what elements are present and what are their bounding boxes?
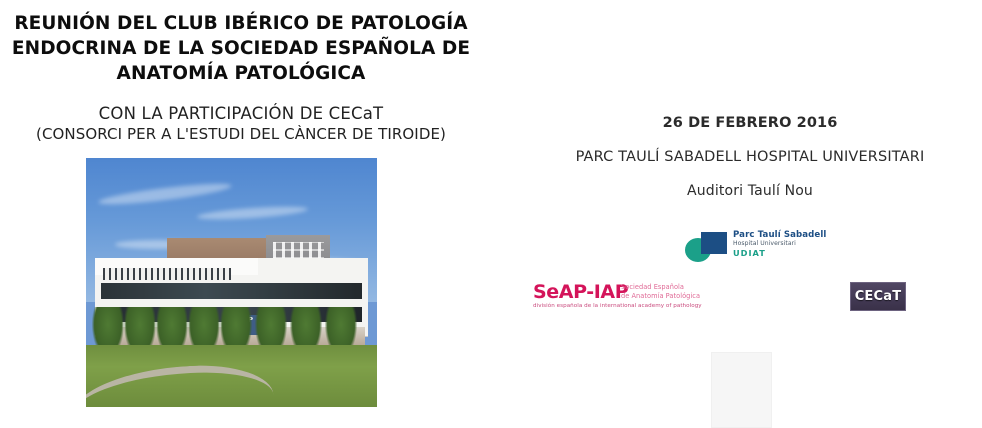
cecat-logo: CECaT (850, 282, 906, 311)
photo-glass-band (101, 283, 363, 299)
parc-tauli-logo: Parc Taulí Sabadell Hospital Universitar… (683, 230, 833, 264)
page-title: REUNIÓN DEL CLUB IBÉRICO DE PATOLOGÍA EN… (10, 11, 472, 86)
parc-tauli-logo-text: Parc Taulí Sabadell Hospital Universitar… (733, 230, 833, 259)
title-line-1: REUNIÓN DEL CLUB IBÉRICO DE PATOLOGÍA (10, 11, 472, 36)
left-column: REUNIÓN DEL CLUB IBÉRICO DE PATOLOGÍA EN… (0, 0, 482, 428)
parc-tauli-subtitle: Hospital Universitari (733, 240, 833, 248)
seap-iap-logo: SeAP-IAP Sociedad Española de Anatomía P… (533, 281, 718, 313)
event-date: 26 DE FEBRERO 2016 (510, 106, 982, 140)
title-line-2: ENDOCRINA DE LA SOCIEDAD ESPAÑOLA DE (10, 36, 472, 61)
event-auditorium: Auditori Taulí Nou (510, 174, 982, 208)
parc-tauli-unit: UDIAT (733, 248, 833, 259)
venue-photo: P (86, 158, 377, 407)
seap-iap-division-text: división española de la international ac… (533, 302, 702, 310)
participation-subtext: (CONSORCI PER A L'ESTUDI DEL CÀNCER DE T… (10, 124, 472, 144)
photo-facade-louvers (103, 268, 231, 280)
event-venue: PARC TAULÍ SABADELL HOSPITAL UNIVERSITAR… (510, 140, 982, 174)
seap-iap-tagline-line1: Sociedad Española (621, 283, 719, 292)
title-line-3: ANATOMÍA PATOLÓGICA (10, 61, 472, 86)
participation-block: CON LA PARTICIPACIÓN DE CECaT (CONSORCI … (10, 103, 472, 144)
seap-iap-tagline: Sociedad Española de Anatomía Patológica (621, 283, 719, 300)
seap-iap-tagline-line2: de Anatomía Patológica (621, 292, 719, 301)
parc-tauli-square-icon (701, 232, 727, 254)
venue-info: 26 DE FEBRERO 2016 PARC TAULÍ SABADELL H… (510, 106, 982, 208)
participation-headline: CON LA PARTICIPACIÓN DE CECaT (10, 103, 472, 124)
seap-iap-acronym: SeAP-IAP (533, 282, 628, 303)
parc-tauli-name: Parc Taulí Sabadell (733, 230, 833, 240)
image-placeholder (711, 352, 772, 428)
cecat-logo-text: CECaT (855, 289, 902, 304)
